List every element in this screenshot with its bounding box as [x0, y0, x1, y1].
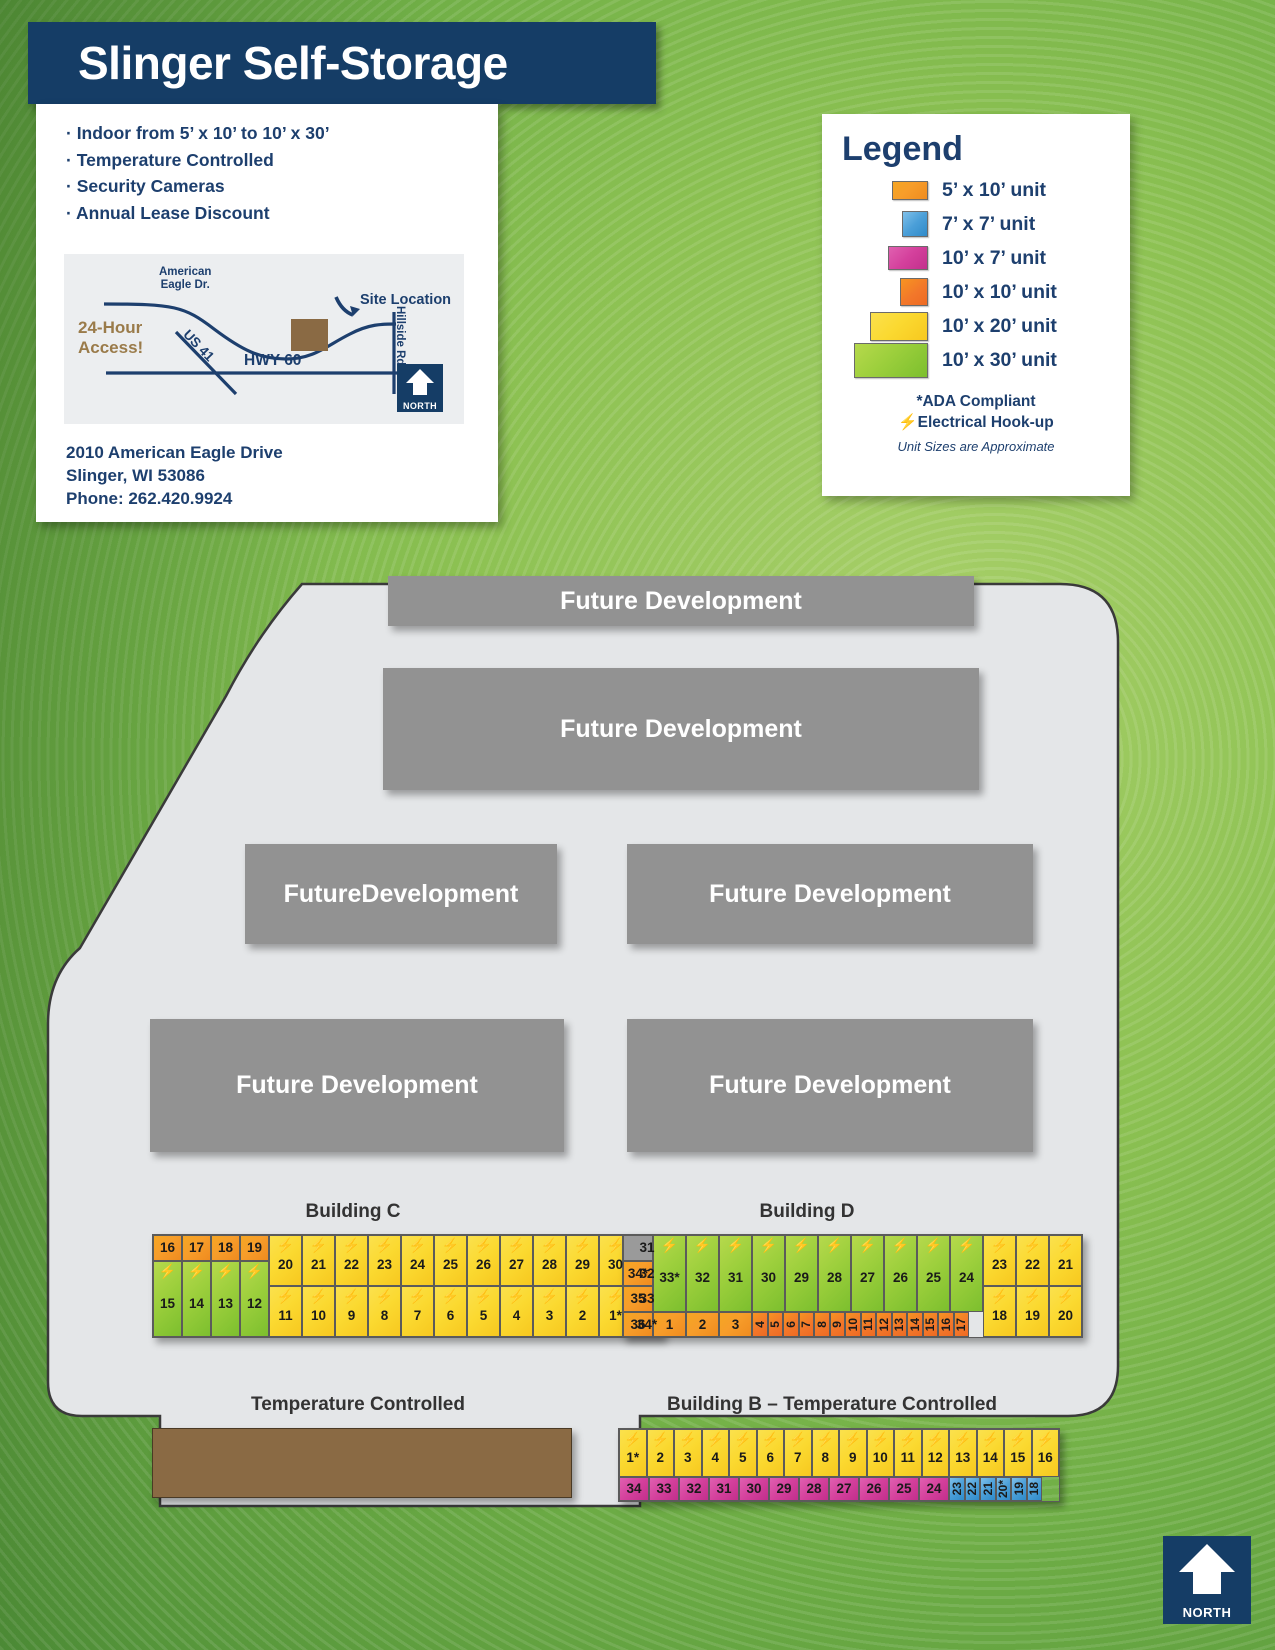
legend-item: 7’ x 7’ unit	[822, 207, 1130, 241]
legend-swatch-icon	[902, 211, 928, 237]
storage-unit[interactable]: ⚡23	[983, 1235, 1016, 1286]
unit-number: 31	[639, 1241, 654, 1255]
future-development-block: Future Development	[627, 844, 1033, 944]
storage-unit[interactable]: 32	[679, 1477, 709, 1501]
north-arrow-icon	[1163, 1536, 1251, 1606]
unit-number: 30	[761, 1271, 776, 1285]
legend-swatch-cell	[822, 246, 942, 270]
storage-unit[interactable]: ⚡12	[922, 1429, 950, 1477]
lightning-bolt-icon: ⚡	[1057, 1289, 1074, 1303]
storage-unit[interactable]: ⚡24	[950, 1235, 983, 1312]
lightning-bolt-icon: ⚡	[310, 1289, 327, 1303]
feature-item: · Temperature Controlled	[66, 147, 498, 174]
unit-number: 21	[1058, 1258, 1073, 1272]
lightning-bolt-icon: ⚡	[899, 1432, 916, 1446]
unit-number: 7	[794, 1451, 802, 1465]
phone-line: Phone: 262.420.9924	[66, 487, 283, 510]
location-minimap: 24-Hour Access! American Eagle Dr. Site …	[64, 254, 464, 424]
lightning-bolt-icon: ⚡	[442, 1289, 459, 1303]
lightning-bolt-icon: ⚡	[574, 1238, 591, 1252]
legend-items: 5’ x 10’ unit7’ x 7’ unit10’ x 7’ unit10…	[822, 173, 1130, 377]
storage-unit[interactable]: 22	[965, 1477, 981, 1501]
storage-unit[interactable]: 9	[830, 1312, 846, 1338]
building-b-title: Building B – Temperature Controlled	[612, 1394, 1052, 1416]
building-c-main-column: ⚡28⚡3	[533, 1235, 566, 1337]
lightning-bolt-icon: ⚡	[442, 1238, 459, 1252]
storage-unit[interactable]: ⚡6	[434, 1286, 467, 1337]
building-b-wrap: ⚡1*⚡2⚡3⚡4⚡5⚡6⚡7⚡8⚡9⚡10⚡11⚡12⚡13⚡14⚡15⚡16…	[619, 1429, 1059, 1501]
unit-number: 25	[443, 1258, 458, 1272]
page-title: Slinger Self-Storage	[28, 22, 656, 104]
storage-unit[interactable]: ⚡9	[335, 1286, 368, 1337]
building-d-units[interactable]: 34*3536⚡33*⚡32⚡31⚡30⚡29⚡28⚡27⚡26⚡25⚡2412…	[622, 1234, 1083, 1338]
building-c-main-column: ⚡29⚡2	[566, 1235, 599, 1337]
building-c-left-column: 18⚡13	[211, 1235, 240, 1337]
storage-unit[interactable]: 19	[1011, 1477, 1027, 1501]
storage-unit[interactable]: 5	[768, 1312, 784, 1338]
lightning-bolt-icon: ⚡	[217, 1264, 234, 1278]
future-development-block: Future Development	[388, 576, 974, 626]
storage-unit[interactable]: 33	[649, 1477, 679, 1501]
legend-title: Legend	[822, 114, 1130, 173]
storage-unit[interactable]: ⚡31	[719, 1235, 752, 1312]
storage-unit[interactable]: 4	[752, 1312, 768, 1338]
unit-number: 14	[909, 1318, 921, 1331]
future-development-block: Future Development	[150, 1019, 564, 1152]
lightning-bolt-icon: ⚡	[475, 1238, 492, 1252]
storage-unit[interactable]: ⚡1*	[619, 1429, 647, 1477]
lightning-bolt-icon: ⚡	[817, 1432, 834, 1446]
unit-number: 30	[608, 1258, 623, 1272]
storage-unit[interactable]: ⚡20	[269, 1235, 302, 1286]
unit-number: 11	[862, 1318, 874, 1331]
storage-unit[interactable]: ⚡13	[949, 1429, 977, 1477]
unit-number: 15	[160, 1297, 175, 1311]
unit-number: 2	[656, 1451, 664, 1465]
lightning-bolt-icon: ⚡	[508, 1289, 525, 1303]
unit-number: 22	[1025, 1258, 1040, 1272]
storage-unit[interactable]: ⚡22	[1016, 1235, 1049, 1286]
north-indicator: NORTH	[1163, 1536, 1251, 1624]
legend-item: 5’ x 10’ unit	[822, 173, 1130, 207]
unit-number: 34	[626, 1482, 641, 1496]
minimap-hillside-label: Hillside Rd.	[394, 306, 406, 369]
building-d-green-column: ⚡26	[884, 1235, 917, 1312]
storage-unit[interactable]: 24	[919, 1477, 949, 1501]
storage-unit[interactable]: ⚡11	[894, 1429, 922, 1477]
legend-fine-print: Unit Sizes are Approximate	[822, 439, 1130, 454]
site-plan: Future DevelopmentFuture DevelopmentFutu…	[40, 576, 1130, 1516]
unit-number: 26	[476, 1258, 491, 1272]
lightning-bolt-icon: ⚡	[859, 1238, 876, 1252]
north-label: NORTH	[1163, 1605, 1251, 1620]
lightning-bolt-icon: ⚡	[652, 1432, 669, 1446]
lightning-bolt-icon: ⚡	[607, 1289, 624, 1303]
unit-number: 12	[878, 1318, 890, 1331]
storage-unit[interactable]: 13	[892, 1312, 908, 1338]
storage-unit[interactable]: ⚡25	[434, 1235, 467, 1286]
storage-unit[interactable]: 27	[829, 1477, 859, 1501]
storage-unit[interactable]: ⚡7	[401, 1286, 434, 1337]
lightning-bolt-icon: ⚡	[1037, 1432, 1054, 1446]
future-development-label: Future Development	[709, 1070, 951, 1101]
building-c-main-column: ⚡24⚡7	[401, 1235, 434, 1337]
unit-number: 19	[1025, 1309, 1040, 1323]
unit-number: 16	[1038, 1451, 1053, 1465]
storage-unit[interactable]: ⚡18	[983, 1286, 1016, 1337]
unit-number: 10	[873, 1451, 888, 1465]
storage-unit[interactable]: ⚡25	[917, 1235, 950, 1312]
storage-unit[interactable]: 3	[719, 1312, 752, 1338]
unit-number: 25	[926, 1271, 941, 1285]
unit-number: 23	[992, 1258, 1007, 1272]
building-d-title: Building D	[712, 1201, 902, 1223]
address-line: 2010 American Eagle Drive	[66, 441, 283, 464]
lightning-bolt-icon: ⚡	[707, 1432, 724, 1446]
building-c-main-group: ⚡20⚡11⚡21⚡10⚡22⚡9⚡23⚡8⚡24⚡7⚡25⚡6⚡26⚡5⚡27…	[269, 1235, 632, 1337]
unit-number: 29	[776, 1482, 791, 1496]
storage-unit[interactable]: ⚡10	[867, 1429, 895, 1477]
unit-number: 28	[542, 1258, 557, 1272]
storage-unit[interactable]: ⚡14	[182, 1261, 211, 1337]
title-banner: Slinger Self-Storage	[28, 22, 656, 104]
storage-unit[interactable]: 23	[949, 1477, 965, 1501]
lightning-bolt-icon: ⚡	[991, 1289, 1008, 1303]
lightning-bolt-icon: ⚡	[679, 1432, 696, 1446]
storage-unit[interactable]: 18	[1027, 1477, 1043, 1501]
storage-unit[interactable]: 26	[859, 1477, 889, 1501]
storage-unit[interactable]: ⚡7	[784, 1429, 812, 1477]
storage-unit[interactable]: ⚡4	[500, 1286, 533, 1337]
building-c-units[interactable]: 16⚡1517⚡1418⚡1319⚡12⚡20⚡11⚡21⚡10⚡22⚡9⚡23…	[152, 1234, 663, 1338]
lightning-bolt-icon: ⚡	[277, 1289, 294, 1303]
unit-number: 3	[732, 1318, 740, 1332]
building-d-green-column: ⚡33*	[653, 1235, 686, 1312]
legend-item: 10’ x 7’ unit	[822, 241, 1130, 275]
unit-number: 18	[1028, 1482, 1040, 1495]
storage-unit[interactable]: ⚡32	[686, 1235, 719, 1312]
unit-number: 14	[189, 1297, 204, 1311]
lightning-bolt-icon: ⚡	[734, 1432, 751, 1446]
unit-number: 19	[1013, 1482, 1025, 1495]
building-c-left-column: 16⚡15	[153, 1235, 182, 1337]
lightning-bolt-icon: ⚡	[246, 1264, 263, 1278]
lightning-bolt-icon: ⚡	[892, 1238, 909, 1252]
storage-unit[interactable]: 19	[240, 1235, 269, 1261]
legend-swatch-icon	[900, 278, 928, 306]
unit-number: 31	[728, 1271, 743, 1285]
unit-number: 3	[546, 1309, 554, 1323]
storage-unit[interactable]: 1	[653, 1312, 686, 1338]
storage-unit[interactable]: ⚡5	[467, 1286, 500, 1337]
storage-unit[interactable]: ⚡8	[368, 1286, 401, 1337]
lightning-bolt-icon: ⚡	[574, 1289, 591, 1303]
storage-unit[interactable]: ⚡23	[368, 1235, 401, 1286]
storage-unit[interactable]: ⚡13	[211, 1261, 240, 1337]
storage-unit[interactable]: 17	[954, 1312, 970, 1338]
legend-swatch-cell	[822, 278, 942, 306]
storage-unit[interactable]: 16	[153, 1235, 182, 1261]
storage-unit[interactable]: 25	[889, 1477, 919, 1501]
storage-unit[interactable]: ⚡11	[269, 1286, 302, 1337]
lightning-bolt-icon: ⚡	[1057, 1238, 1074, 1252]
storage-unit[interactable]: ⚡26	[884, 1235, 917, 1312]
unit-number: 4	[754, 1321, 766, 1328]
unit-number: 8	[821, 1451, 829, 1465]
unit-number: 32	[686, 1482, 701, 1496]
storage-unit[interactable]: ⚡29	[566, 1235, 599, 1286]
storage-unit[interactable]: 34	[619, 1477, 649, 1501]
unit-number: 13	[893, 1318, 905, 1331]
building-c-main-column: ⚡20⚡11	[269, 1235, 302, 1337]
building-c-main-column: ⚡25⚡6	[434, 1235, 467, 1337]
lightning-bolt-icon: ⚡	[310, 1238, 327, 1252]
unit-number: 3	[684, 1451, 692, 1465]
feature-item: · Security Cameras	[66, 173, 498, 200]
storage-unit[interactable]: ⚡15	[1004, 1429, 1032, 1477]
temperature-controlled-title: Temperature Controlled	[150, 1394, 566, 1416]
storage-unit[interactable]: ⚡10	[302, 1286, 335, 1337]
unit-number: 35	[630, 1292, 645, 1306]
storage-unit[interactable]: 29	[769, 1477, 799, 1501]
storage-unit[interactable]: ⚡20	[1049, 1286, 1082, 1337]
building-d-right-column: ⚡23⚡18	[983, 1235, 1016, 1337]
legend-swatch-cell	[822, 181, 942, 200]
legend-item-label: 7’ x 7’ unit	[942, 213, 1035, 236]
unit-number: 5	[480, 1309, 488, 1323]
unit-number: 32	[695, 1271, 710, 1285]
storage-unit[interactable]: 2	[686, 1312, 719, 1338]
unit-number: 18	[218, 1241, 233, 1255]
unit-number: 4	[711, 1451, 719, 1465]
building-d-right-group: ⚡23⚡18⚡22⚡19⚡21⚡20	[983, 1235, 1082, 1337]
storage-unit[interactable]: 16	[938, 1312, 954, 1338]
legend-ada-note: *ADA Compliant	[822, 391, 1130, 412]
unit-number: 23	[377, 1258, 392, 1272]
unit-number: 24	[926, 1482, 941, 1496]
storage-unit[interactable]: ⚡26	[467, 1235, 500, 1286]
lightning-bolt-icon: ⚡	[1009, 1432, 1026, 1446]
storage-unit[interactable]: ⚡24	[401, 1235, 434, 1286]
unit-number: 33*	[659, 1271, 679, 1285]
storage-unit[interactable]: 14	[907, 1312, 923, 1338]
lightning-bolt-icon: ⚡	[844, 1432, 861, 1446]
lightning-bolt-icon: ⚡	[541, 1289, 558, 1303]
lightning-bolt-icon: ⚡	[826, 1238, 843, 1252]
lightning-bolt-icon: ⚡	[1024, 1238, 1041, 1252]
building-c-left-group: 16⚡1517⚡1418⚡1319⚡12	[153, 1235, 269, 1337]
unit-number: 36	[630, 1318, 645, 1332]
feature-item: · Indoor from 5’ x 10’ to 10’ x 30’	[66, 120, 498, 147]
info-card: · Indoor from 5’ x 10’ to 10’ x 30’ · Te…	[36, 104, 498, 522]
storage-unit[interactable]: 12	[876, 1312, 892, 1338]
building-d-bottom-strip: 1234567891011121314151617	[653, 1312, 983, 1338]
storage-unit[interactable]: ⚡16	[1032, 1429, 1060, 1477]
storage-unit[interactable]: 10	[845, 1312, 861, 1338]
storage-unit[interactable]: 18	[211, 1235, 240, 1261]
storage-unit[interactable]: 21	[980, 1477, 996, 1501]
unit-number: 30	[746, 1482, 761, 1496]
lightning-bolt-icon: ⚡	[541, 1238, 558, 1252]
storage-unit[interactable]: ⚡14	[977, 1429, 1005, 1477]
unit-number: 8	[816, 1321, 828, 1328]
minimap-north-indicator: NORTH	[397, 364, 443, 412]
storage-unit[interactable]: ⚡29	[785, 1235, 818, 1312]
storage-unit[interactable]: ⚡30	[752, 1235, 785, 1312]
storage-unit[interactable]: ⚡22	[335, 1235, 368, 1286]
storage-unit[interactable]: ⚡3	[533, 1286, 566, 1337]
storage-unit[interactable]: ⚡3	[674, 1429, 702, 1477]
building-c-main-column: ⚡21⚡10	[302, 1235, 335, 1337]
lightning-bolt-icon: ⚡	[624, 1432, 641, 1446]
storage-unit[interactable]: 28	[799, 1477, 829, 1501]
building-d-green-group: ⚡33*⚡32⚡31⚡30⚡29⚡28⚡27⚡26⚡25⚡24	[653, 1235, 983, 1312]
storage-unit[interactable]: ⚡9	[839, 1429, 867, 1477]
future-development-label: Future Development	[236, 1070, 478, 1101]
unit-number: 1*	[626, 1451, 639, 1465]
storage-unit[interactable]: 31	[709, 1477, 739, 1501]
building-d-green-column: ⚡25	[917, 1235, 950, 1312]
building-d-green-column: ⚡31	[719, 1235, 752, 1312]
unit-number: 15	[1010, 1451, 1025, 1465]
unit-number: 31	[716, 1482, 731, 1496]
building-d-green-column: ⚡24	[950, 1235, 983, 1312]
storage-unit[interactable]: ⚡33*	[653, 1235, 686, 1312]
storage-unit[interactable]: ⚡12	[240, 1261, 269, 1337]
building-b-units[interactable]: ⚡1*⚡2⚡3⚡4⚡5⚡6⚡7⚡8⚡9⚡10⚡11⚡12⚡13⚡14⚡15⚡16…	[618, 1428, 1060, 1502]
unit-number: 24	[959, 1271, 974, 1285]
storage-unit[interactable]: 15	[923, 1312, 939, 1338]
building-c-main-column: ⚡22⚡9	[335, 1235, 368, 1337]
unit-number: 24	[410, 1258, 425, 1272]
unit-number: 27	[860, 1271, 875, 1285]
lightning-bolt-icon: ⚡	[409, 1289, 426, 1303]
unit-number: 28	[827, 1271, 842, 1285]
lightning-bolt-icon: ⚡	[727, 1238, 744, 1252]
building-d-right-column: ⚡22⚡19	[1016, 1235, 1049, 1337]
legend-swatch-icon	[892, 181, 928, 200]
building-c-title: Building C	[258, 1201, 448, 1223]
unit-number: 16	[940, 1318, 952, 1331]
unit-number: 22	[344, 1258, 359, 1272]
legend-swatch-icon	[870, 312, 928, 341]
unit-number: 15	[924, 1318, 936, 1331]
unit-number: 20*	[997, 1480, 1009, 1498]
building-d-green-column: ⚡30	[752, 1235, 785, 1312]
storage-unit[interactable]: ⚡2	[647, 1429, 675, 1477]
lightning-bolt-icon: ⚡	[694, 1238, 711, 1252]
building-d-green-column: ⚡29	[785, 1235, 818, 1312]
lightning-bolt-icon: ⚡	[277, 1238, 294, 1252]
storage-unit[interactable]: ⚡2	[566, 1286, 599, 1337]
unit-number: 16	[160, 1241, 175, 1255]
unit-number: 27	[509, 1258, 524, 1272]
unit-number: 10	[847, 1318, 859, 1331]
minimap-access-label: 24-Hour Access!	[78, 318, 143, 358]
unit-number: 17	[189, 1241, 204, 1255]
lightning-bolt-icon: ⚡	[508, 1238, 525, 1252]
storage-unit[interactable]: ⚡21	[302, 1235, 335, 1286]
legend-item-label: 5’ x 10’ unit	[942, 179, 1046, 202]
future-development-label: Future Development	[560, 586, 802, 617]
lightning-bolt-icon: ⚡	[954, 1432, 971, 1446]
unit-number: 10	[311, 1309, 326, 1323]
lightning-bolt-icon: ⚡	[607, 1238, 624, 1252]
future-development-block: Future Development	[627, 1019, 1033, 1152]
building-b-bottom-row: 343332313029282726252423222120*1918	[619, 1477, 1059, 1501]
lightning-bolt-icon: ⚡	[789, 1432, 806, 1446]
storage-unit[interactable]: 8	[814, 1312, 830, 1338]
minimap-american-eagle-label: American Eagle Dr.	[159, 266, 211, 292]
unit-number: 5	[769, 1321, 781, 1328]
storage-unit[interactable]: ⚡27	[500, 1235, 533, 1286]
lightning-bolt-icon: ⚡	[958, 1238, 975, 1252]
storage-unit[interactable]: ⚡15	[153, 1261, 182, 1337]
legend-swatch-cell	[822, 343, 942, 378]
lightning-bolt-icon: ⚡	[188, 1264, 205, 1278]
storage-unit[interactable]: ⚡19	[1016, 1286, 1049, 1337]
unit-number: 19	[247, 1241, 262, 1255]
unit-number: 2	[699, 1318, 707, 1332]
storage-unit[interactable]: ⚡8	[812, 1429, 840, 1477]
building-c-left-column: 17⚡14	[182, 1235, 211, 1337]
future-development-block: FutureDevelopment	[245, 844, 557, 944]
address-line: Slinger, WI 53086	[66, 464, 283, 487]
unit-number: 27	[836, 1482, 851, 1496]
unit-number: 13	[218, 1297, 233, 1311]
unit-number: 5	[739, 1451, 747, 1465]
building-d-green-column: ⚡28	[818, 1235, 851, 1312]
storage-unit[interactable]: ⚡4	[702, 1429, 730, 1477]
future-development-label: Future Development	[709, 879, 951, 910]
lightning-bolt-icon: ⚡	[343, 1238, 360, 1252]
unit-number: 7	[414, 1309, 422, 1323]
lightning-bolt-icon: ⚡	[376, 1238, 393, 1252]
storage-unit[interactable]: 30	[739, 1477, 769, 1501]
lightning-bolt-icon: ⚡	[376, 1289, 393, 1303]
legend-item: 10’ x 20’ unit	[822, 309, 1130, 343]
storage-unit[interactable]: ⚡28	[533, 1235, 566, 1286]
building-c-main-column: ⚡23⚡8	[368, 1235, 401, 1337]
lightning-bolt-icon: ⚡	[409, 1238, 426, 1252]
unit-number: 11	[901, 1451, 915, 1465]
storage-unit[interactable]: 11	[861, 1312, 877, 1338]
storage-unit[interactable]: ⚡21	[1049, 1235, 1082, 1286]
storage-unit[interactable]: ⚡27	[851, 1235, 884, 1312]
storage-unit[interactable]: 17	[182, 1235, 211, 1261]
legend-electrical-note: ⚡Electrical Hook-up	[822, 412, 1130, 433]
legend-swatch-cell	[822, 312, 942, 341]
unit-number: 26	[893, 1271, 908, 1285]
storage-unit[interactable]: ⚡6	[757, 1429, 785, 1477]
future-development-label: Future	[284, 879, 362, 910]
lightning-bolt-icon: ⚡	[475, 1289, 492, 1303]
lightning-bolt-icon: ⚡	[762, 1432, 779, 1446]
unit-number: 6	[447, 1309, 455, 1323]
lightning-bolt-icon: ⚡	[159, 1264, 176, 1278]
storage-unit[interactable]: 20*	[996, 1477, 1012, 1501]
lightning-bolt-icon: ⚡	[982, 1432, 999, 1446]
storage-unit[interactable]: ⚡5	[729, 1429, 757, 1477]
unit-number: 8	[381, 1309, 389, 1323]
storage-unit[interactable]: 6	[783, 1312, 799, 1338]
legend-swatch-cell	[822, 211, 942, 237]
unit-number: 33	[656, 1482, 671, 1496]
storage-unit[interactable]: ⚡28	[818, 1235, 851, 1312]
storage-unit[interactable]: 7	[799, 1312, 815, 1338]
lightning-bolt-icon: ⚡	[343, 1289, 360, 1303]
legend-swatch-icon	[854, 343, 928, 378]
